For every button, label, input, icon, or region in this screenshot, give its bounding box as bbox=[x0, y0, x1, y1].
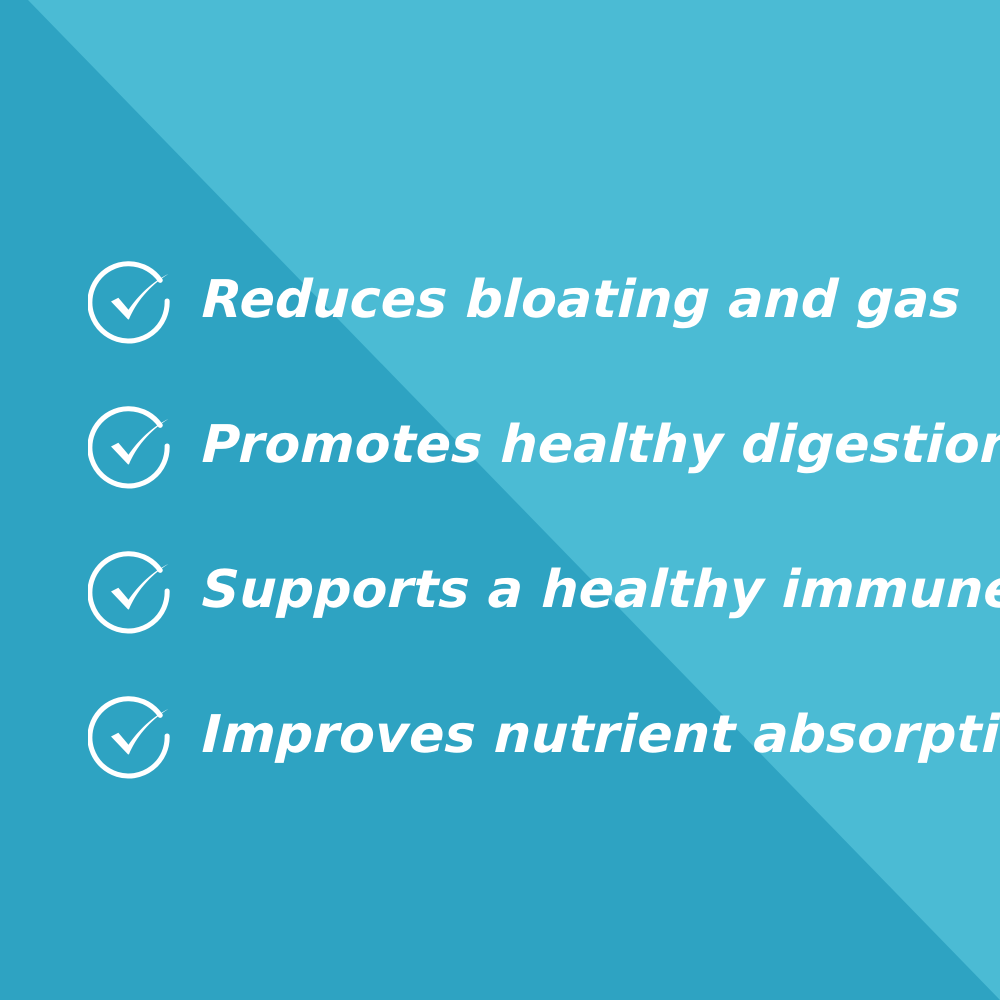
check-circle-icon bbox=[88, 545, 180, 637]
list-item-label: Supports a healthy immune system bbox=[201, 563, 1000, 618]
check-circle-icon bbox=[88, 400, 180, 492]
list-item-label: Improves nutrient absorption bbox=[201, 708, 1000, 763]
benefits-graphic: Reduces bloating and gas Promotes health… bbox=[0, 0, 1000, 1000]
benefits-list: Reduces bloating and gas Promotes health… bbox=[88, 228, 948, 808]
list-item: Improves nutrient absorption bbox=[88, 663, 948, 808]
check-circle-icon bbox=[88, 690, 180, 782]
list-item-label: Reduces bloating and gas bbox=[201, 273, 961, 328]
list-item: Supports a healthy immune system bbox=[88, 518, 948, 663]
list-item: Promotes healthy digestion bbox=[88, 373, 948, 518]
check-circle-icon bbox=[88, 255, 180, 347]
list-item-label: Promotes healthy digestion bbox=[201, 418, 1000, 473]
list-item: Reduces bloating and gas bbox=[88, 228, 948, 373]
